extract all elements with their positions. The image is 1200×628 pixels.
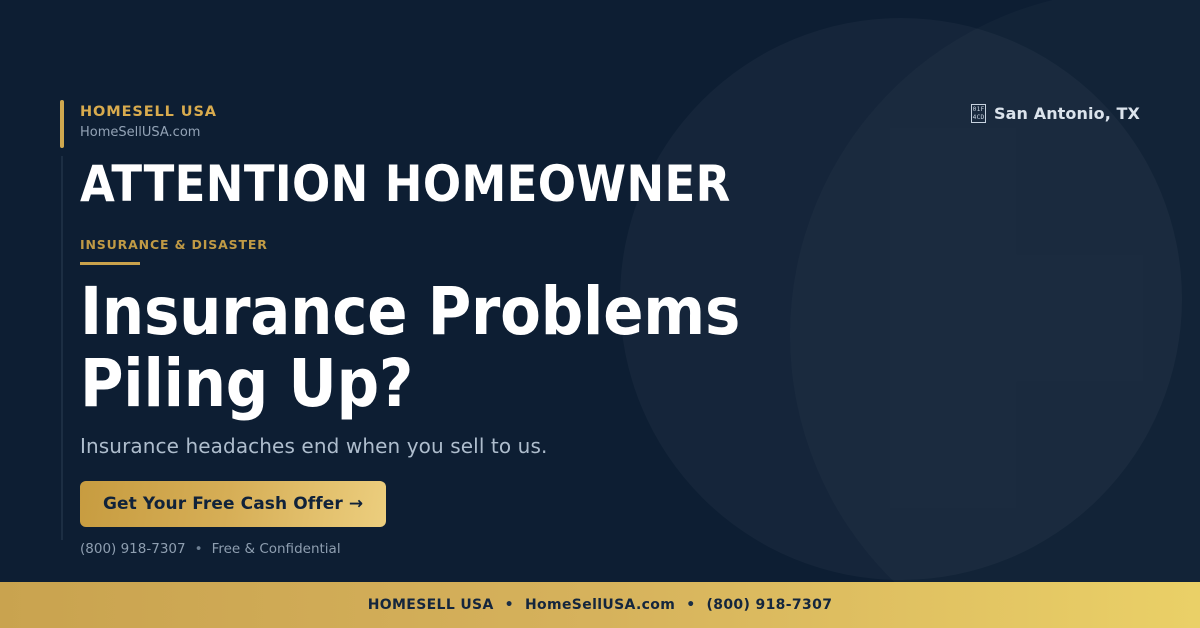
brand-block: HOMESELL USA HomeSellUSA.com — [80, 104, 217, 141]
category-eyebrow: INSURANCE & DISASTER — [80, 237, 268, 252]
attention-heading: ATTENTION HOMEOWNER — [80, 156, 731, 212]
bullet-separator-icon: • — [195, 541, 203, 557]
page-title: Insurance Problems Piling Up? — [80, 276, 840, 420]
get-free-cash-offer-button[interactable]: Get Your Free Cash Offer → — [80, 481, 386, 527]
footer-website[interactable]: HomeSellUSA.com — [525, 597, 675, 613]
pin-icon-hex-row-2: 4CD — [973, 114, 985, 122]
promo-banner: HOMESELL USA HomeSellUSA.com 01F4CD San … — [0, 0, 1200, 628]
footer-bar: HOMESELL USA • HomeSellUSA.com • (800) 9… — [0, 582, 1200, 628]
footer-bullet-separator-2-icon: • — [686, 597, 695, 613]
contact-microcopy: (800) 918-7307 • Free & Confidential — [80, 541, 341, 557]
location-badge: 01F4CD San Antonio, TX — [971, 104, 1200, 123]
subheadline: Insurance headaches end when you sell to… — [80, 433, 547, 460]
location-label: San Antonio, TX — [994, 104, 1140, 123]
gold-accent-bar — [60, 100, 64, 148]
vertical-guide-line — [61, 156, 63, 540]
map-pin-icon: 01F4CD — [971, 104, 986, 123]
phone-number[interactable]: (800) 918-7307 — [80, 541, 186, 557]
footer-brand: HOMESELL USA — [368, 597, 494, 613]
pin-icon-hex-row-1: 01F — [973, 106, 985, 114]
brand-website: HomeSellUSA.com — [80, 125, 217, 141]
banner-content: HOMESELL USA HomeSellUSA.com 01F4CD San … — [80, 0, 1120, 582]
eyebrow-underline — [80, 262, 140, 265]
footer-phone[interactable]: (800) 918-7307 — [707, 597, 833, 613]
confidential-note: Free & Confidential — [212, 541, 341, 557]
brand-name: HOMESELL USA — [80, 104, 217, 121]
footer-bullet-separator-1-icon: • — [505, 597, 514, 613]
